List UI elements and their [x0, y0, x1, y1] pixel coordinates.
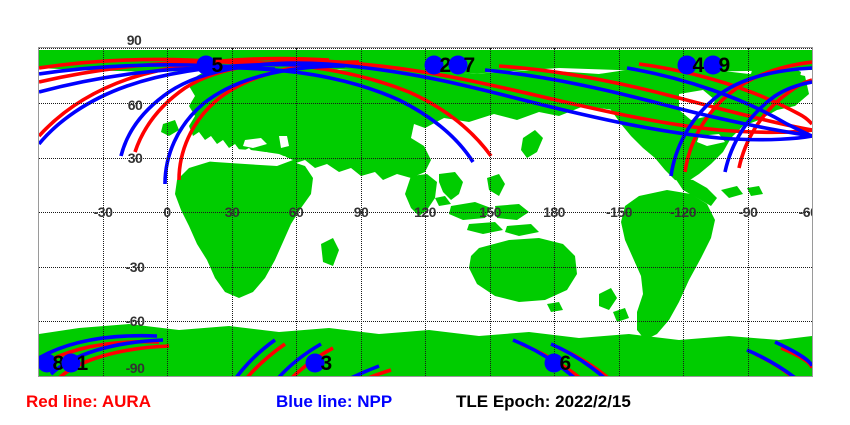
ytick-label-90: 90: [127, 32, 142, 48]
xtick-label-150: 150: [479, 204, 501, 220]
legend-red-line-aura: Red line: AURA: [26, 392, 151, 412]
gridline-lat--90: [39, 376, 812, 377]
gridline-lon--60: [812, 48, 813, 376]
xtick-label--60: -60: [799, 204, 813, 220]
xtick-label-90: 90: [354, 204, 369, 220]
ytick-label-30: 30: [128, 150, 143, 166]
xtick-label-120: 120: [414, 204, 436, 220]
satellite-ground-track-page: -30 0 30 60 90 120 150 180 -150 -120 -90…: [0, 0, 850, 425]
ytick-label--60: -60: [126, 313, 145, 329]
legend-blue-line-npp: Blue line: NPP: [276, 392, 392, 412]
xtick-label-30: 30: [225, 204, 240, 220]
legend-tle-epoch: TLE Epoch: 2022/2/15: [456, 392, 631, 412]
xtick-label--30: -30: [94, 204, 113, 220]
ytick-label-60: 60: [128, 97, 143, 113]
ytick-label--30: -30: [126, 259, 145, 275]
ytick-label--90: -90: [126, 360, 145, 376]
xtick-label-60: 60: [289, 204, 304, 220]
xtick-label--150: -150: [606, 204, 632, 220]
xtick-label--120: -120: [670, 204, 696, 220]
xtick-label-180: 180: [543, 204, 565, 220]
world-map-plot: -30 0 30 60 90 120 150 180 -150 -120 -90…: [38, 47, 813, 377]
chart-legend-footer: Red line: AURA Blue line: NPP TLE Epoch:…: [0, 392, 850, 422]
xtick-label--90: -90: [739, 204, 758, 220]
xtick-label-0: 0: [163, 204, 170, 220]
